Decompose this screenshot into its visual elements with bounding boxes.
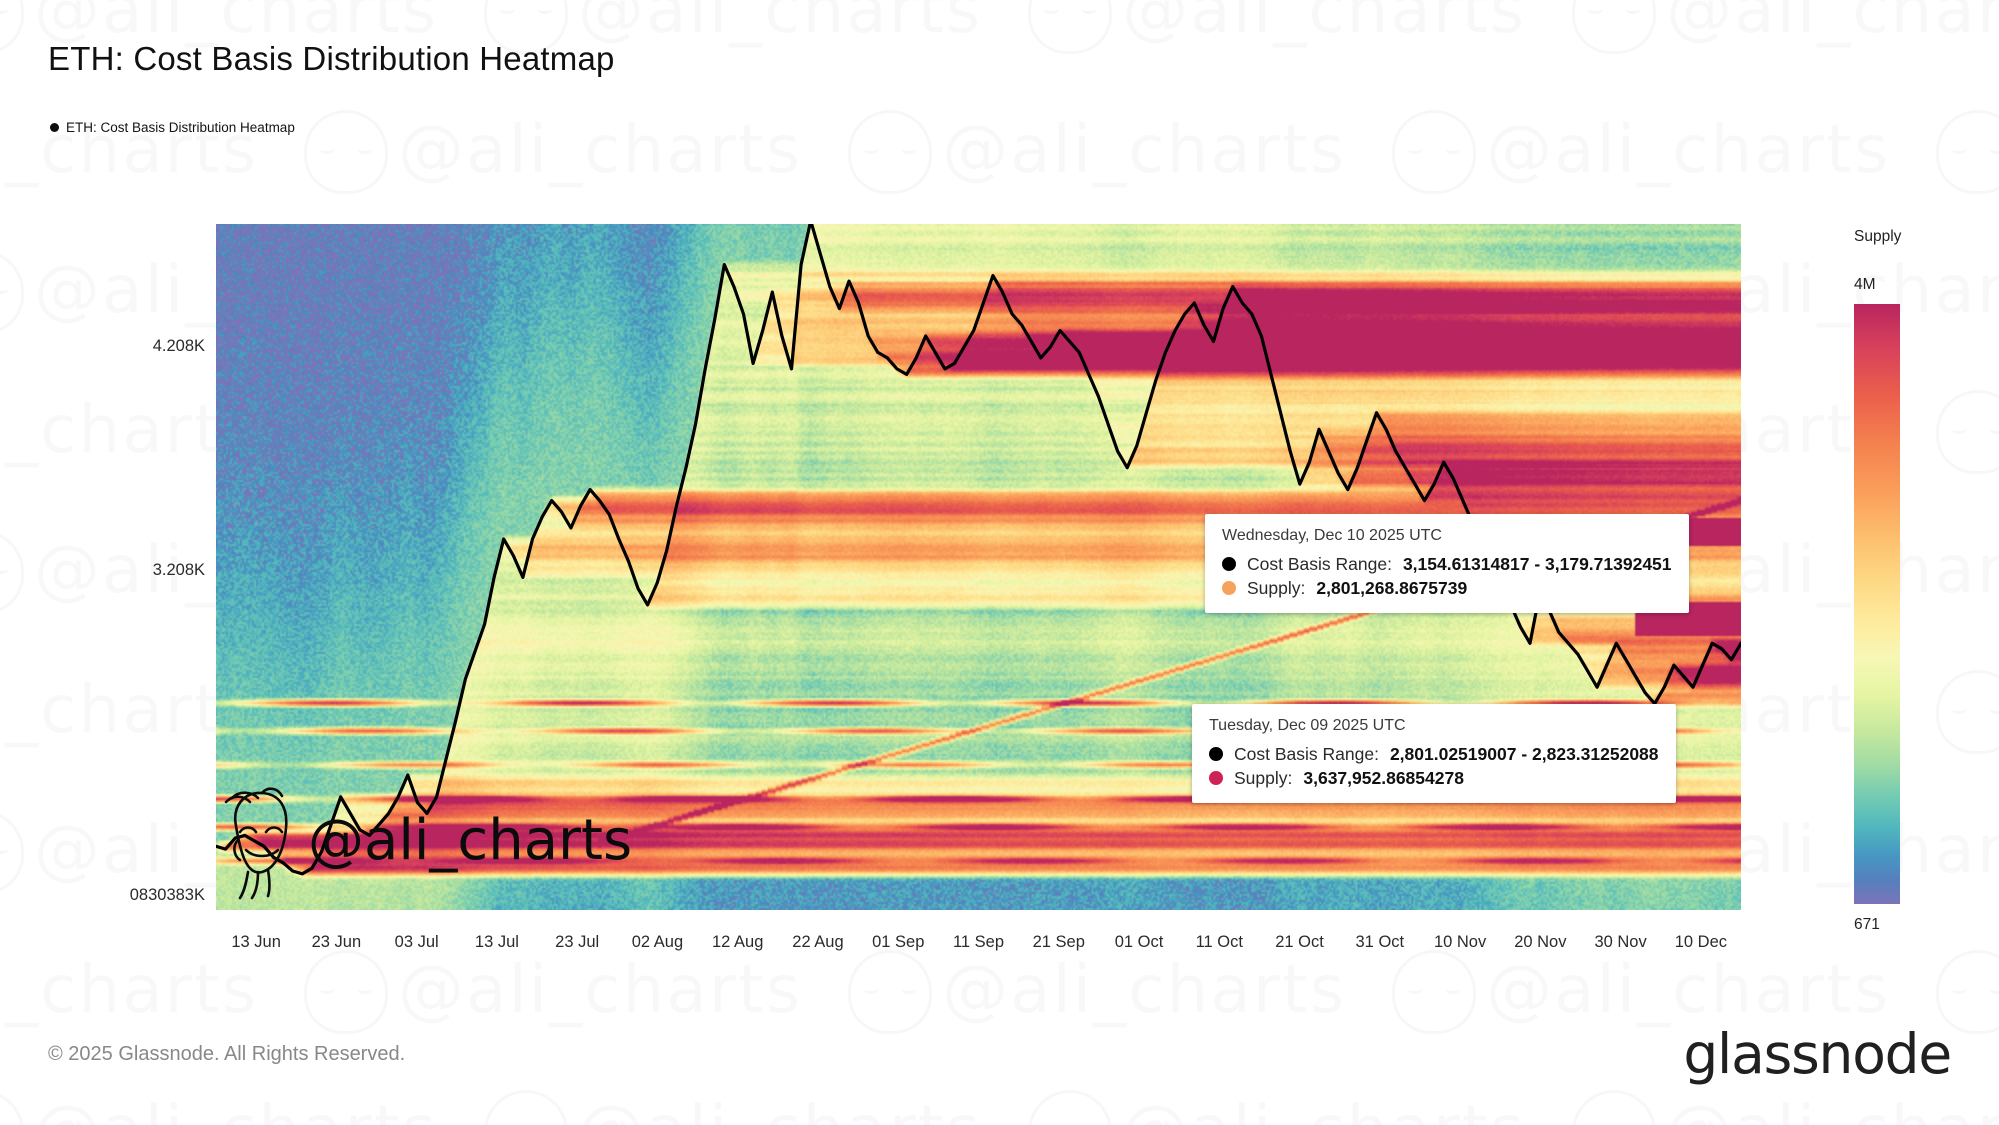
colorbar-title: Supply — [1854, 228, 1901, 246]
page-title: ETH: Cost Basis Distribution Heatmap — [48, 40, 615, 78]
series-legend[interactable]: ETH: Cost Basis Distribution Heatmap — [50, 120, 295, 135]
x-axis-tick-2: 03 Jul — [395, 933, 439, 952]
x-axis-tick-6: 12 Aug — [712, 933, 763, 952]
x-axis-tick-8: 01 Sep — [872, 933, 924, 952]
x-axis-tick-10: 21 Sep — [1033, 933, 1085, 952]
x-axis-tick-13: 21 Oct — [1275, 933, 1324, 952]
tooltip-cost-basis-label: Cost Basis Range: — [1234, 742, 1379, 766]
legend-dot-icon — [50, 123, 59, 132]
x-axis-tick-16: 20 Nov — [1514, 933, 1566, 952]
tooltip-date: Wednesday, Dec 10 2025 UTC — [1222, 525, 1672, 547]
tooltip-cost-basis-value: 3,154.61314817 - 3,179.71392451 — [1403, 552, 1672, 576]
cost-basis-dot-icon — [1209, 747, 1223, 761]
tooltip-supply-value: 3,637,952.86854278 — [1303, 766, 1464, 790]
tooltip-supply-value: 2,801,268.8675739 — [1316, 576, 1467, 600]
tooltip-cost-basis-row: Cost Basis Range: 2,801.02519007 - 2,823… — [1209, 742, 1659, 766]
colorbar-min-label: 671 — [1854, 916, 1901, 934]
x-axis-tick-14: 31 Oct — [1356, 933, 1405, 952]
y-axis-tick-0: 4.208K — [35, 337, 205, 356]
glassnode-logo: glassnode — [1683, 1022, 1951, 1086]
tooltip-dec-09: Tuesday, Dec 09 2025 UTC Cost Basis Rang… — [1192, 704, 1676, 803]
tooltip-supply-row: Supply: 2,801,268.8675739 — [1222, 576, 1672, 600]
x-axis-tick-18: 10 Dec — [1675, 933, 1727, 952]
tooltip-date: Tuesday, Dec 09 2025 UTC — [1209, 715, 1659, 737]
cost-basis-dot-icon — [1222, 557, 1236, 571]
colorbar-max-label: 4M — [1854, 276, 1901, 294]
tooltip-supply-row: Supply: 3,637,952.86854278 — [1209, 766, 1659, 790]
x-axis-tick-11: 01 Oct — [1115, 933, 1164, 952]
supply-dot-icon — [1209, 771, 1223, 785]
x-axis-tick-17: 30 Nov — [1594, 933, 1646, 952]
tooltip-dec-10: Wednesday, Dec 10 2025 UTC Cost Basis Ra… — [1205, 514, 1689, 613]
colorbar-legend[interactable]: Supply 4M 671 — [1838, 228, 1901, 934]
tooltip-cost-basis-value: 2,801.02519007 - 2,823.31252088 — [1390, 742, 1659, 766]
footer-copyright: © 2025 Glassnode. All Rights Reserved. — [48, 1043, 405, 1066]
tooltip-cost-basis-row: Cost Basis Range: 3,154.61314817 - 3,179… — [1222, 552, 1672, 576]
tooltip-supply-label: Supply: — [1247, 576, 1305, 600]
colorbar-gradient — [1854, 304, 1900, 904]
x-axis-tick-7: 22 Aug — [792, 933, 843, 952]
x-axis-tick-5: 02 Aug — [632, 933, 683, 952]
legend-label: ETH: Cost Basis Distribution Heatmap — [66, 120, 295, 135]
supply-dot-icon — [1222, 581, 1236, 595]
x-axis-tick-15: 10 Nov — [1434, 933, 1486, 952]
y-axis-tick-1: 3.208K — [35, 561, 205, 580]
x-axis-tick-1: 23 Jun — [312, 933, 362, 952]
x-axis-tick-3: 13 Jul — [475, 933, 519, 952]
x-axis-tick-12: 11 Oct — [1196, 933, 1243, 952]
x-axis-tick-4: 23 Jul — [555, 933, 599, 952]
x-axis-tick-0: 13 Jun — [231, 933, 281, 952]
x-axis-tick-9: 11 Sep — [953, 933, 1004, 952]
tooltip-cost-basis-label: Cost Basis Range: — [1247, 552, 1392, 576]
tooltip-supply-label: Supply: — [1234, 766, 1292, 790]
y-axis-tick-2: 0830383K — [35, 886, 205, 905]
x-axis: 13 Jun23 Jun03 Jul13 Jul23 Jul02 Aug12 A… — [216, 933, 1741, 963]
